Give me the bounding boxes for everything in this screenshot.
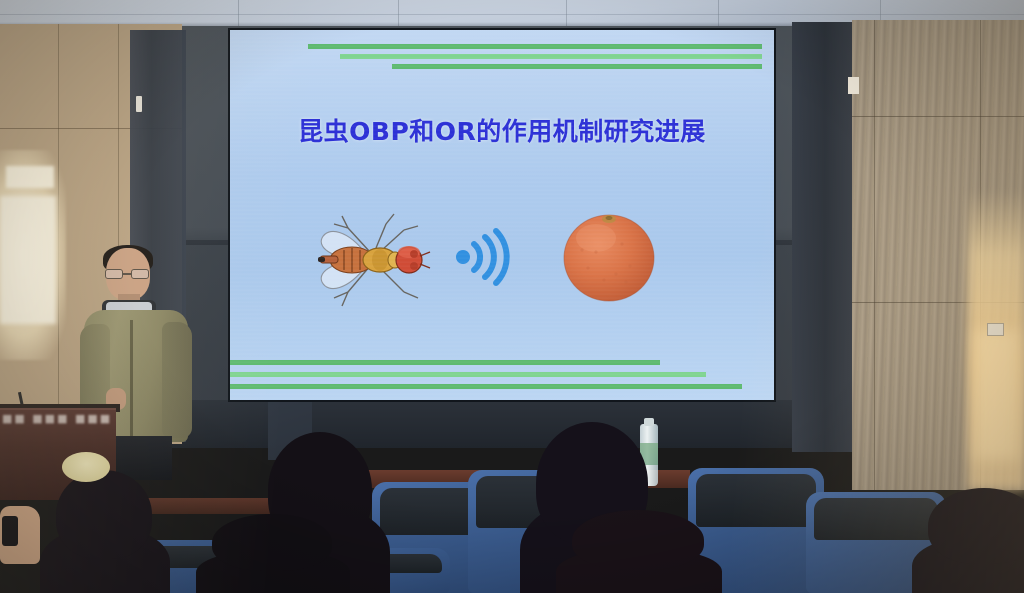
seat-headrest xyxy=(696,474,816,527)
slide-graphics-row xyxy=(230,200,774,320)
fruit-fly-illustration xyxy=(308,204,438,316)
wall-seam xyxy=(852,116,1024,117)
slide-accent-line xyxy=(392,64,762,69)
wall-switch[interactable] xyxy=(987,323,1004,336)
attendee-front-left xyxy=(56,470,152,559)
presenter-arm-right xyxy=(162,322,192,438)
ceiling-grid-line xyxy=(0,14,1024,15)
hair-scrunchie xyxy=(62,452,110,482)
sunlight-patch xyxy=(6,166,54,188)
signal-waves-icon xyxy=(452,228,514,286)
seat-headrest xyxy=(814,498,938,540)
wall-seam xyxy=(874,20,875,490)
slide-accent-line xyxy=(340,54,762,59)
orange-fruit-icon xyxy=(560,206,658,306)
glasses-icon xyxy=(105,269,151,279)
slide-title: 昆虫OBP和OR的作用机制研究进展 xyxy=(230,112,774,148)
projector-glow xyxy=(230,30,774,178)
wall-switch[interactable] xyxy=(848,77,859,94)
slide-accent-line xyxy=(230,372,706,377)
attendee-mid-center xyxy=(212,514,332,571)
wifi-signal-icon xyxy=(452,228,514,286)
lecture-hall-photo: 昆虫OBP和OR的作用机制研究进展 xyxy=(0,0,1024,593)
fruit-fly-icon xyxy=(308,204,438,316)
projection-screen: 昆虫OBP和OR的作用机制研究进展 xyxy=(228,28,776,402)
orange-fruit-illustration xyxy=(560,206,658,306)
attendee-far-right xyxy=(928,488,1024,564)
presentation-slide: 昆虫OBP和OR的作用机制研究进展 xyxy=(230,30,774,400)
jacket-zipper xyxy=(130,320,133,438)
door-handle-icon[interactable] xyxy=(136,96,142,112)
bottle-cap xyxy=(644,418,654,426)
podium-engraved-text: ■■ ■■■ ■■■ xyxy=(2,412,114,425)
slide-accent-line xyxy=(230,384,742,389)
slide-accent-line xyxy=(230,360,660,365)
sunlight-patch xyxy=(975,330,1019,460)
sunlight-patch xyxy=(0,196,56,324)
back-wall-lower xyxy=(148,400,864,448)
attendee-front-right xyxy=(572,510,704,570)
seat-headrest xyxy=(380,488,482,535)
slide-accent-line xyxy=(308,44,762,49)
smartphone xyxy=(0,506,40,564)
